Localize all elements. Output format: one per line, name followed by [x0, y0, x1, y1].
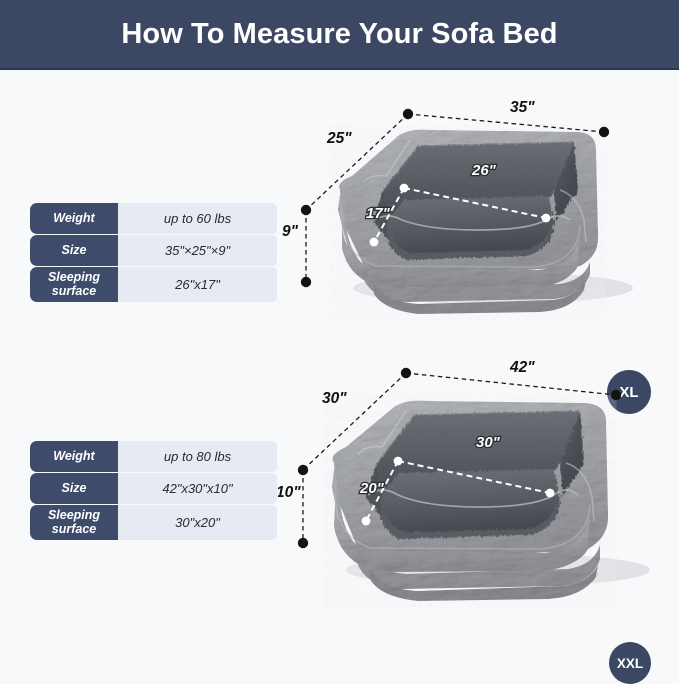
- spec-value-weight: up to 60 lbs: [118, 203, 277, 234]
- dim-label-exterior-height: 9": [282, 223, 299, 240]
- size-badge-xxl: XXL: [609, 642, 651, 684]
- spec-value-size: 35"×25"×9": [118, 235, 277, 266]
- dim-label-exterior-depth: 30": [322, 390, 347, 407]
- table-row: Sleeping surface 26"x17": [30, 267, 277, 302]
- table-row: Size 42"x30"x10": [30, 473, 277, 504]
- spec-label-sleeping-line2: surface: [32, 285, 116, 299]
- spec-table-xl: Weight up to 60 lbs Size 35"×25"×9" Slee…: [30, 202, 277, 303]
- size-block-xxl: Weight up to 80 lbs Size 42"x30"x10" Sle…: [0, 345, 679, 620]
- dim-label-exterior-width: 42": [509, 359, 535, 376]
- dim-label-exterior-height: 10": [278, 484, 301, 501]
- pet-bed-illustration: [332, 401, 650, 601]
- page-header: How To Measure Your Sofa Bed: [0, 0, 679, 70]
- dim-label-exterior-depth: 25": [326, 130, 352, 147]
- page-content: Weight up to 60 lbs Size 35"×25"×9" Slee…: [0, 70, 679, 619]
- table-row: Size 35"×25"×9": [30, 235, 277, 266]
- spec-label-weight: Weight: [30, 441, 118, 472]
- dim-label-interior-width: 30": [476, 434, 501, 451]
- table-row: Weight up to 80 lbs: [30, 441, 277, 472]
- dim-label-interior-width: 26": [471, 162, 497, 179]
- spec-label-sleeping-line1: Sleeping: [32, 271, 116, 285]
- product-image-xxl: 42" 30" 10" 30" 20": [278, 345, 679, 620]
- spec-label-weight: Weight: [30, 203, 118, 234]
- spec-value-weight: up to 80 lbs: [118, 441, 277, 472]
- size-badge-label: XXL: [617, 656, 643, 671]
- spec-label-sleeping-surface: Sleeping surface: [30, 505, 118, 540]
- spec-label-size: Size: [30, 473, 118, 504]
- spec-label-sleeping-surface: Sleeping surface: [30, 267, 118, 302]
- spec-label-size: Size: [30, 235, 118, 266]
- product-image-xl: 35" 25" 9" 26" 17": [278, 70, 679, 345]
- spec-value-sleeping-surface: 26"x17": [118, 267, 277, 302]
- dim-label-interior-depth: 20": [359, 480, 385, 497]
- page-title: How To Measure Your Sofa Bed: [121, 18, 557, 51]
- dim-label-interior-depth: 17": [366, 205, 391, 222]
- spec-table-xxl: Weight up to 80 lbs Size 42"x30"x10" Sle…: [30, 440, 277, 541]
- dim-label-exterior-width: 35": [510, 99, 535, 116]
- spec-label-sleeping-line1: Sleeping: [32, 509, 116, 523]
- table-row: Sleeping surface 30"x20": [30, 505, 277, 540]
- spec-label-sleeping-line2: surface: [32, 523, 116, 537]
- size-block-xl: Weight up to 60 lbs Size 35"×25"×9" Slee…: [0, 70, 679, 345]
- spec-value-sleeping-surface: 30"x20": [118, 505, 277, 540]
- table-row: Weight up to 60 lbs: [30, 203, 277, 234]
- spec-value-size: 42"x30"x10": [118, 473, 277, 504]
